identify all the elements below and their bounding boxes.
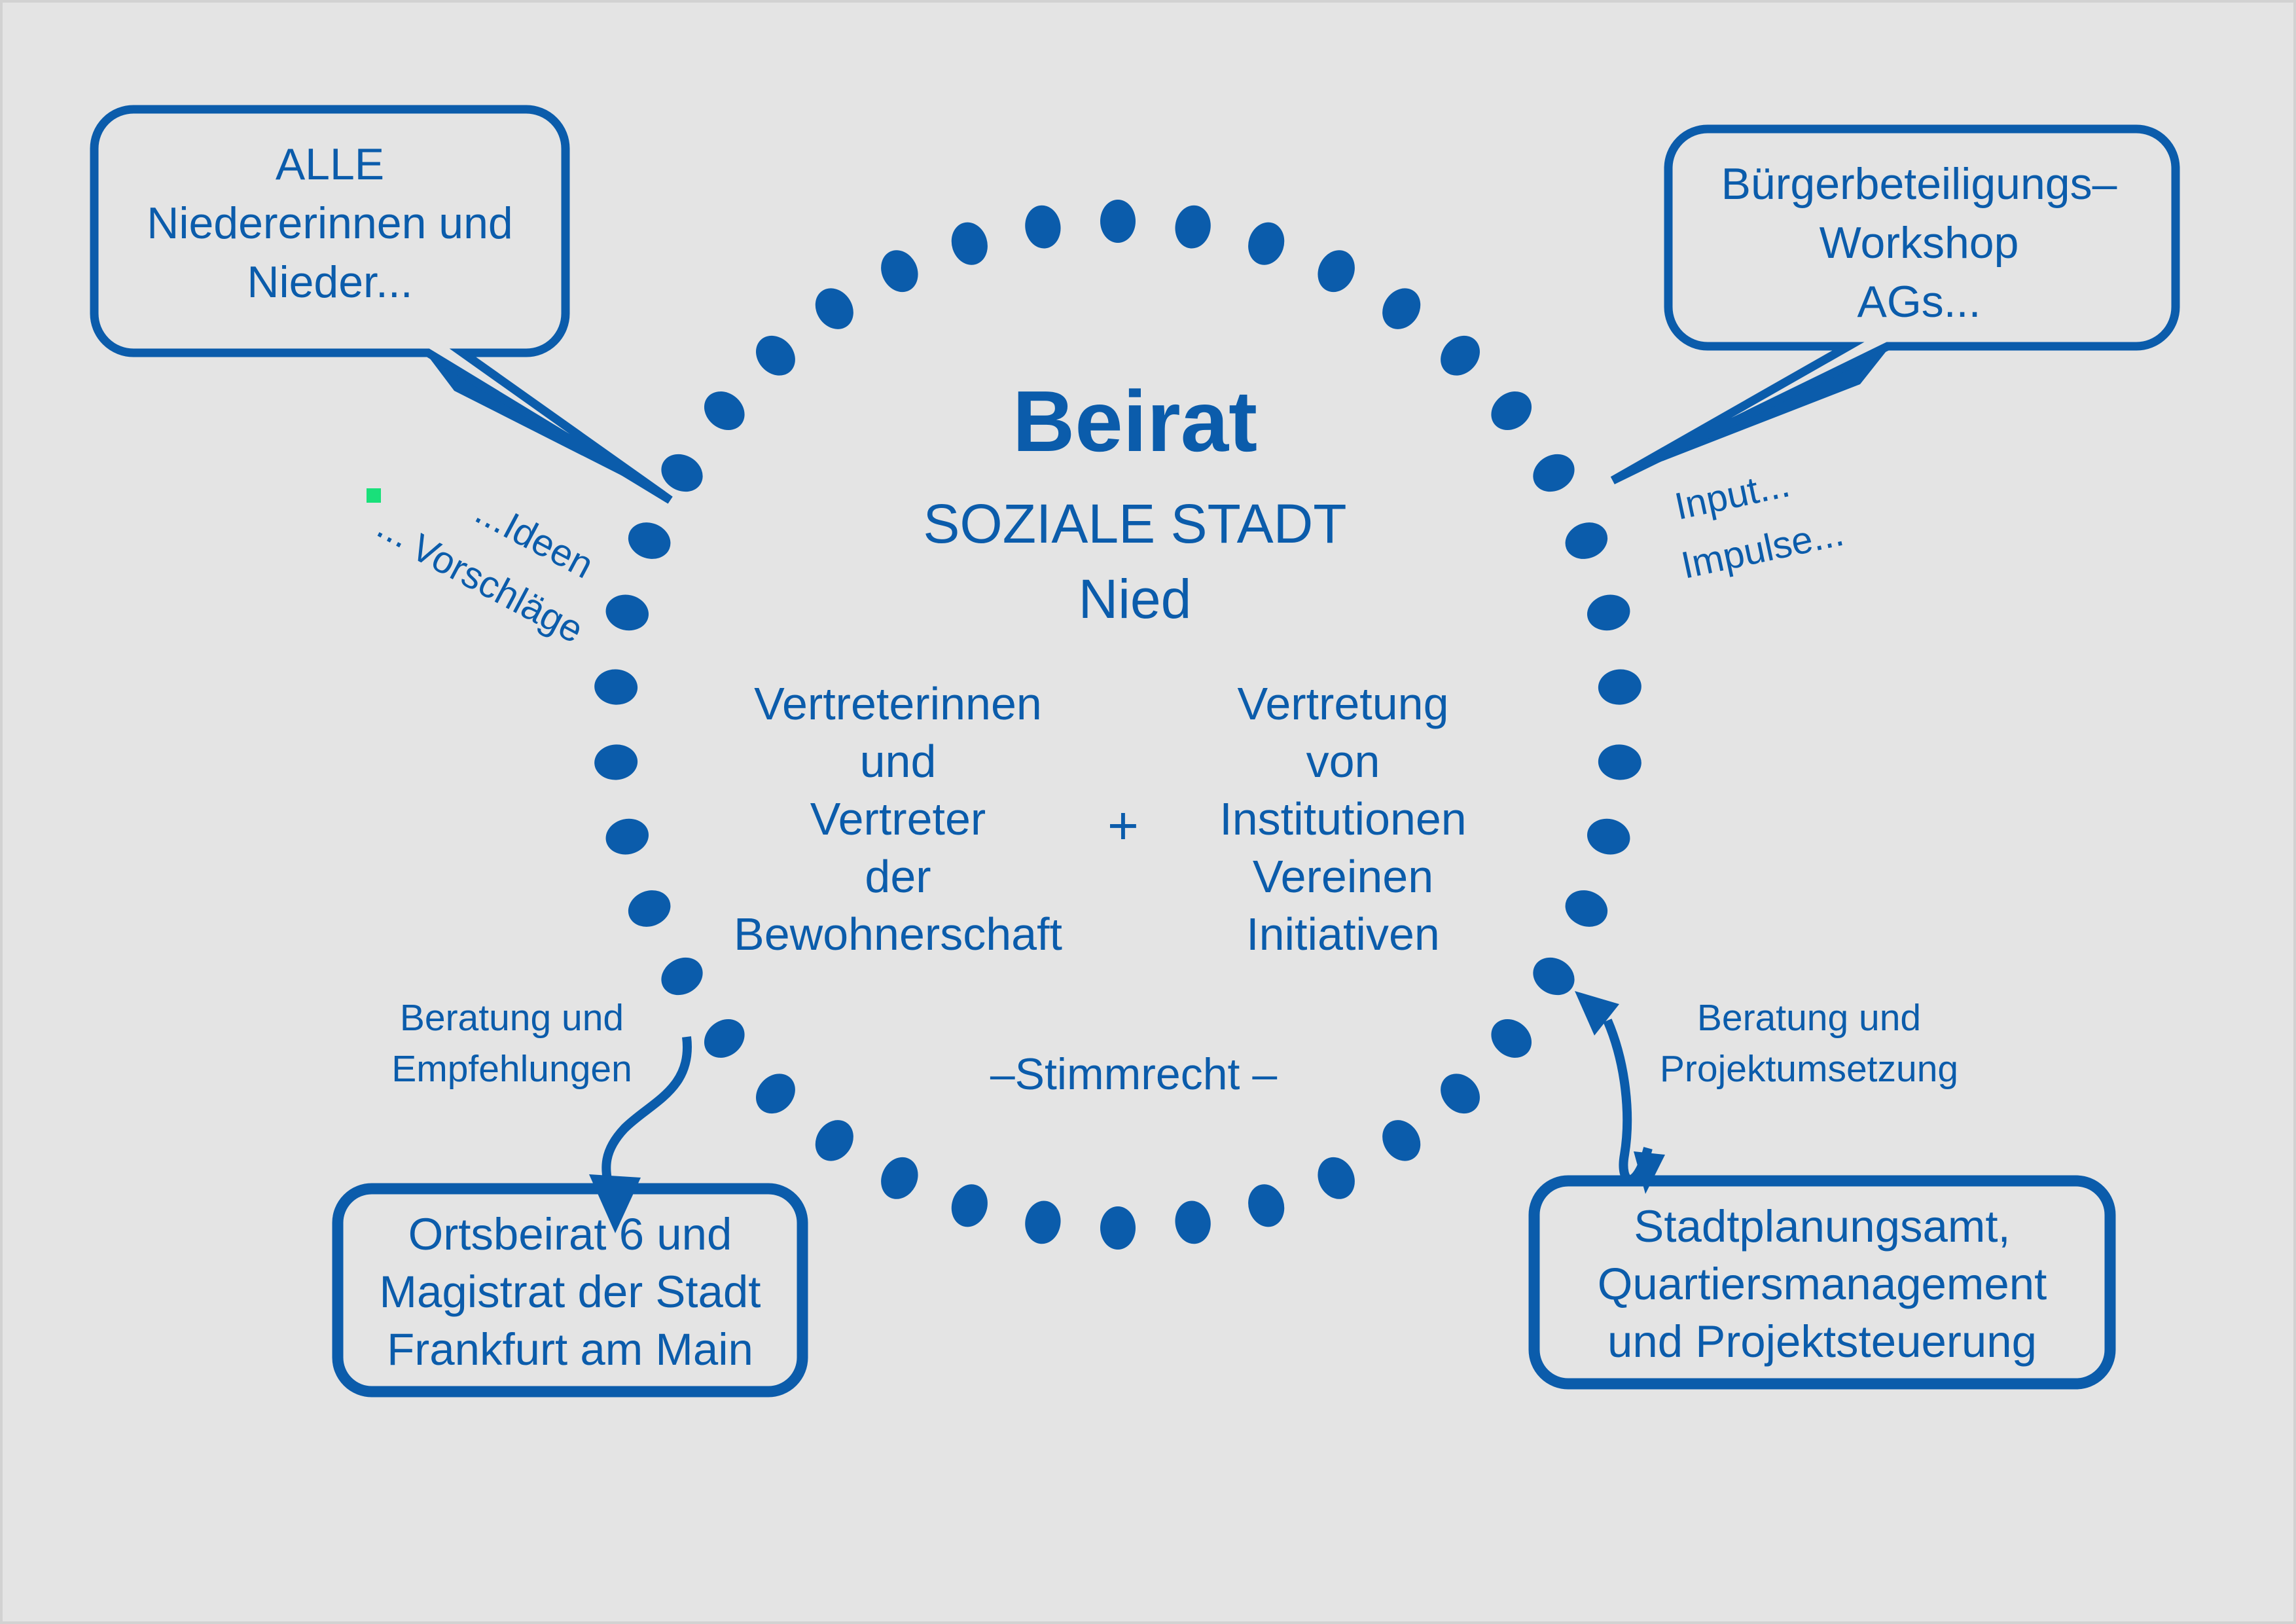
ring-dot <box>1243 1180 1289 1231</box>
ring-dot <box>696 1011 752 1066</box>
title-subtitle-2: Nied <box>1079 568 1192 630</box>
center-title-group: Beirat SOZIALE STADT Nied <box>923 373 1346 630</box>
callout-bottom-right-line2: Quartiersmanagement <box>1598 1259 2047 1309</box>
center-column-right: Vertretung von Institutionen Vereinen In… <box>1219 678 1466 960</box>
ring-dot <box>1374 281 1428 336</box>
right-col-line3: Institutionen <box>1219 793 1466 844</box>
ring-dot <box>1433 1066 1488 1121</box>
bubble-top-right-line2: Workshop <box>1820 218 2019 268</box>
ring-dot <box>1172 1199 1213 1246</box>
ring-dot <box>1243 218 1289 270</box>
side-note-right-group: Input... Impulse... <box>1671 462 1847 586</box>
ring-dot <box>874 244 925 298</box>
ring-dot <box>1100 200 1136 243</box>
ring-dot <box>1584 814 1634 858</box>
ring-dot <box>1022 203 1064 251</box>
side-note-left-vorschlaege-prefix: ... <box>370 504 418 556</box>
bubble-top-right[interactable]: Bürgerbeteiligungs– Workshop AGs... <box>1613 129 2176 480</box>
left-col-line5: Bewohnerschaft <box>734 909 1062 960</box>
right-col-line4: Vereinen <box>1253 851 1433 902</box>
ring-dot <box>1597 743 1643 782</box>
bubble-top-left-line2: Niedererinnen und <box>147 198 513 248</box>
ring-dot <box>1560 884 1613 933</box>
ring-dot <box>748 328 803 384</box>
ring-dot <box>808 1113 861 1168</box>
ring-dot <box>1433 328 1488 384</box>
ring-dot <box>696 384 752 438</box>
callout-bottom-right-line3: und Projektsteuerung <box>1607 1316 2037 1367</box>
flow-right-label-line1: Beratung und <box>1697 997 1921 1039</box>
callout-bottom-left[interactable]: Ortsbeirat 6 und Magistrat der Stadt Fra… <box>338 1189 802 1392</box>
bubble-top-left-line1: ALLE <box>276 139 384 189</box>
right-col-line5: Initiativen <box>1246 909 1440 960</box>
ring-dot <box>808 281 861 336</box>
callout-bottom-right[interactable]: Stadtplanungsamt, Quartiersmanagement un… <box>1534 1181 2110 1384</box>
left-col-line2: und <box>860 736 937 787</box>
ring-dot <box>1172 203 1213 251</box>
bubble-top-right-line1: Bürgerbeteiligungs– <box>1721 159 2117 209</box>
ring-dot <box>1584 590 1634 634</box>
ring-dot <box>874 1151 925 1205</box>
bubble-top-left-line3: Nieder... <box>247 257 412 307</box>
ring-dot <box>1374 1113 1428 1168</box>
ring-dot <box>748 1066 803 1121</box>
right-col-line1: Vertretung <box>1238 678 1449 729</box>
ring-dot <box>623 516 676 565</box>
diagram-canvas: ALLE Niedererinnen und Nieder... Bürgerb… <box>0 0 2296 1624</box>
callout-bottom-left-line2: Magistrat der Stadt <box>380 1267 761 1317</box>
plus-operator: + <box>1107 796 1139 856</box>
beirat-diagram: ALLE Niedererinnen und Nieder... Bürgerb… <box>3 3 2296 1624</box>
ring-dot <box>623 884 676 933</box>
left-col-line4: der <box>865 851 931 902</box>
ring-dot <box>946 1180 993 1231</box>
right-col-line2: von <box>1306 736 1380 787</box>
callout-bottom-left-line3: Frankfurt am Main <box>387 1324 753 1375</box>
ring-dot <box>1100 1206 1136 1250</box>
ring-dot <box>1311 1151 1361 1205</box>
flow-left-group: Beratung und Empfehlungen <box>391 997 687 1233</box>
side-note-right-input: Input... <box>1671 462 1793 528</box>
ring-dot <box>946 218 993 270</box>
center-body: Vertreterinnen und Vertreter der Bewohne… <box>734 678 1467 1099</box>
ring-dot <box>1597 668 1643 706</box>
ring-dot <box>1526 950 1581 1003</box>
left-col-line1: Vertreterinnen <box>754 678 1042 729</box>
flow-left-label-line1: Beratung und <box>400 997 624 1039</box>
bubble-top-left[interactable]: ALLE Niedererinnen und Nieder... <box>94 109 670 500</box>
ring-dot <box>1560 516 1613 565</box>
voting-rights-note: –Stimmrecht – <box>990 1049 1278 1099</box>
callout-bottom-left-line1: Ortsbeirat 6 und <box>408 1209 732 1259</box>
center-column-left: Vertreterinnen und Vertreter der Bewohne… <box>734 678 1062 960</box>
left-col-line3: Vertreter <box>810 793 986 844</box>
green-accent-dot <box>367 488 381 503</box>
ring-dot <box>1022 1199 1064 1246</box>
ring-dot <box>655 950 709 1003</box>
ring-dot <box>602 814 652 858</box>
flow-right-group: Beratung und Projektumsetzung <box>1575 991 1958 1194</box>
ring-dot <box>1484 1011 1539 1066</box>
ring-dot <box>602 590 652 634</box>
ring-dot <box>1526 447 1581 499</box>
ring-dot <box>593 668 639 706</box>
ring-dot <box>593 743 639 782</box>
flow-right-label-line2: Projektumsetzung <box>1660 1048 1958 1090</box>
title-subtitle-1: SOZIALE STADT <box>923 493 1346 554</box>
title-main: Beirat <box>1013 373 1257 469</box>
bubble-top-right-line3: AGs... <box>1857 277 1981 327</box>
side-note-left-group: ...Ideen ... Vorschläge <box>367 488 600 651</box>
ring-dot <box>1311 244 1361 298</box>
ring-dot <box>1484 384 1539 438</box>
callout-bottom-right-line1: Stadtplanungsamt, <box>1634 1201 2010 1252</box>
flow-left-label-line2: Empfehlungen <box>391 1048 632 1090</box>
